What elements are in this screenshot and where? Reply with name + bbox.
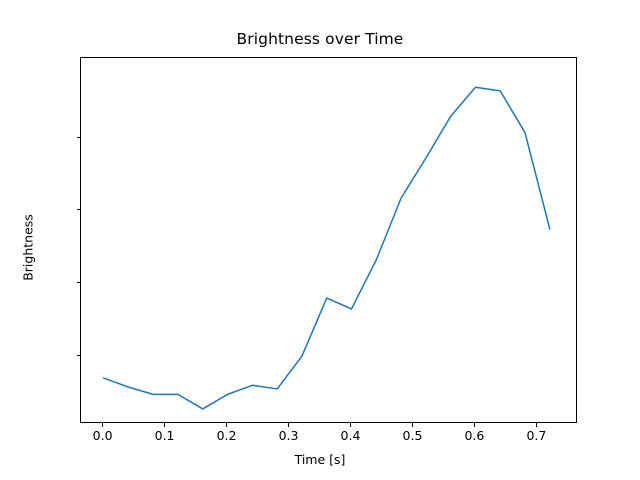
- brightness-line: [104, 87, 550, 409]
- x-tick-label: 0.0: [73, 428, 133, 443]
- x-tick-mark: [226, 423, 227, 427]
- x-tick-mark: [412, 423, 413, 427]
- y-tick-mark: [77, 137, 81, 138]
- x-tick-mark: [536, 423, 537, 427]
- chart-title: Brightness over Time: [0, 30, 640, 48]
- x-axis-label: Time [s]: [0, 452, 640, 467]
- x-tick-mark: [474, 423, 475, 427]
- x-tick-mark: [164, 423, 165, 427]
- x-tick-label: 0.1: [135, 428, 195, 443]
- y-tick-mark: [77, 282, 81, 283]
- x-tick-label: 0.6: [444, 428, 504, 443]
- x-tick-mark: [350, 423, 351, 427]
- x-tick-mark: [102, 423, 103, 427]
- y-tick-mark: [77, 355, 81, 356]
- x-tick-label: 0.5: [382, 428, 442, 443]
- x-tick-label: 0.2: [197, 428, 257, 443]
- line-series-svg: [81, 58, 578, 424]
- y-tick-mark: [77, 209, 81, 210]
- x-tick-mark: [288, 423, 289, 427]
- chart-figure: Brightness over Time 80100120140 0.00.10…: [0, 0, 640, 480]
- x-tick-label: 0.3: [259, 428, 319, 443]
- x-tick-label: 0.7: [506, 428, 566, 443]
- x-tick-label: 0.4: [320, 428, 380, 443]
- y-axis-label: Brightness: [21, 108, 36, 388]
- plot-area: [80, 57, 577, 423]
